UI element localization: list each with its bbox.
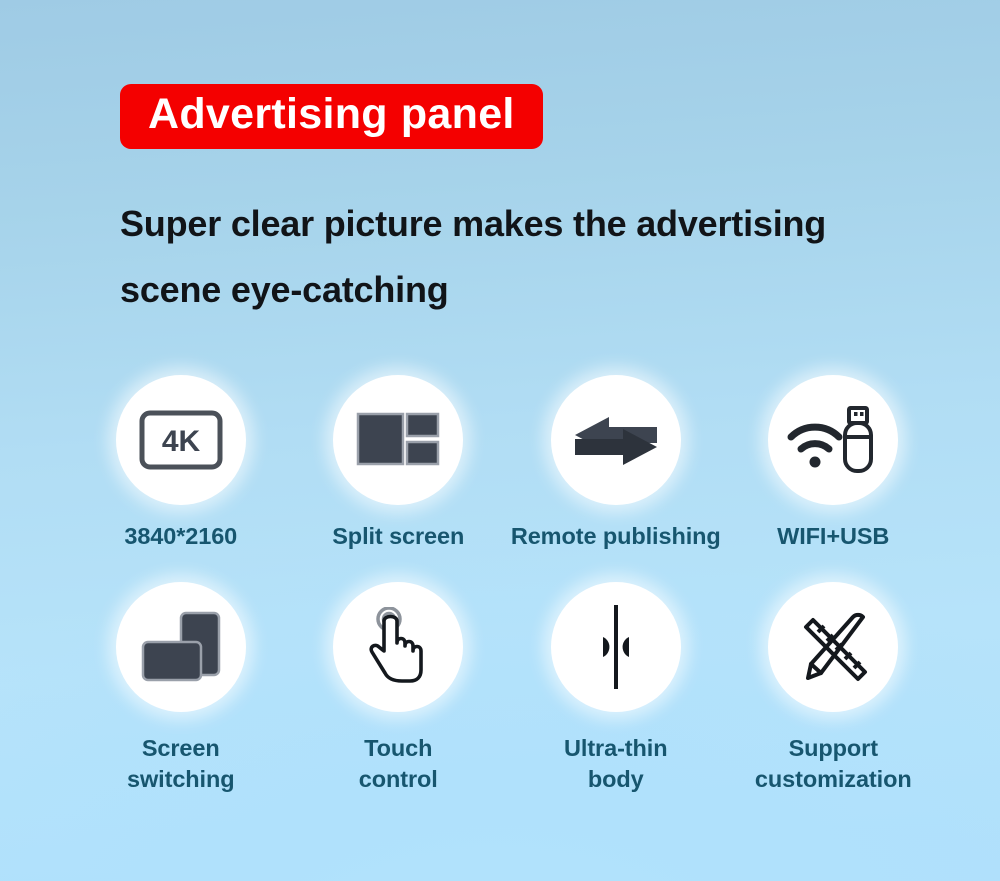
4k-resolution-icon: 4K — [138, 409, 224, 471]
screen-rotation-icon — [139, 610, 223, 684]
icon-circle — [333, 582, 463, 712]
subtitle-line-1: Super clear picture makes the advertisin… — [120, 191, 950, 257]
feature-grid: 4K 3840*2160 Split screen — [72, 375, 942, 795]
icon-circle — [551, 375, 681, 505]
feature-label: Support customization — [755, 733, 912, 795]
ultra-thin-caliper-icon — [589, 603, 643, 691]
subtitle-line-2: scene eye-catching — [120, 257, 950, 323]
ruler-pencil-icon — [791, 605, 875, 689]
bidirectional-arrows-icon — [571, 409, 661, 471]
icon-circle — [768, 375, 898, 505]
feature-item-split-screen: Split screen — [290, 375, 508, 552]
feature-label: Ultra-thin body — [564, 733, 667, 795]
feature-item-screen-switching: Screen switching — [72, 582, 290, 795]
feature-label: Split screen — [332, 521, 464, 552]
touch-hand-icon — [358, 607, 438, 687]
badge-word-panel: panel — [401, 90, 515, 138]
feature-label: Touch control — [359, 733, 438, 795]
feature-item-touch-control: Touch control — [290, 582, 508, 795]
header: Advertisingpanel — [120, 84, 543, 149]
feature-item-resolution: 4K 3840*2160 — [72, 375, 290, 552]
icon-circle: 4K — [116, 375, 246, 505]
feature-row-2: Screen switching Touch control — [72, 582, 942, 795]
feature-item-ultra-thin: Ultra-thin body — [507, 582, 725, 795]
icon-circle — [333, 375, 463, 505]
icon-circle — [768, 582, 898, 712]
feature-label: Remote publishing — [511, 521, 721, 552]
4k-label: 4K — [162, 425, 201, 458]
advertising-panel-slide: Advertisingpanel Super clear picture mak… — [0, 0, 1000, 881]
feature-item-remote-publishing: Remote publishing — [507, 375, 725, 552]
wifi-usb-icon — [785, 404, 881, 476]
icon-circle — [551, 582, 681, 712]
subtitle: Super clear picture makes the advertisin… — [120, 191, 950, 322]
section-title-badge: Advertisingpanel — [120, 84, 543, 149]
feature-item-support-customization: Support customization — [725, 582, 943, 795]
feature-label: Screen switching — [127, 733, 234, 795]
feature-label: WIFI+USB — [777, 521, 889, 552]
badge-word-advertising: Advertising — [148, 90, 388, 138]
feature-row-1: 4K 3840*2160 Split screen — [72, 375, 942, 552]
feature-label: 3840*2160 — [124, 521, 237, 552]
icon-circle — [116, 582, 246, 712]
feature-item-wifi-usb: WIFI+USB — [725, 375, 943, 552]
split-screen-icon — [356, 410, 440, 470]
